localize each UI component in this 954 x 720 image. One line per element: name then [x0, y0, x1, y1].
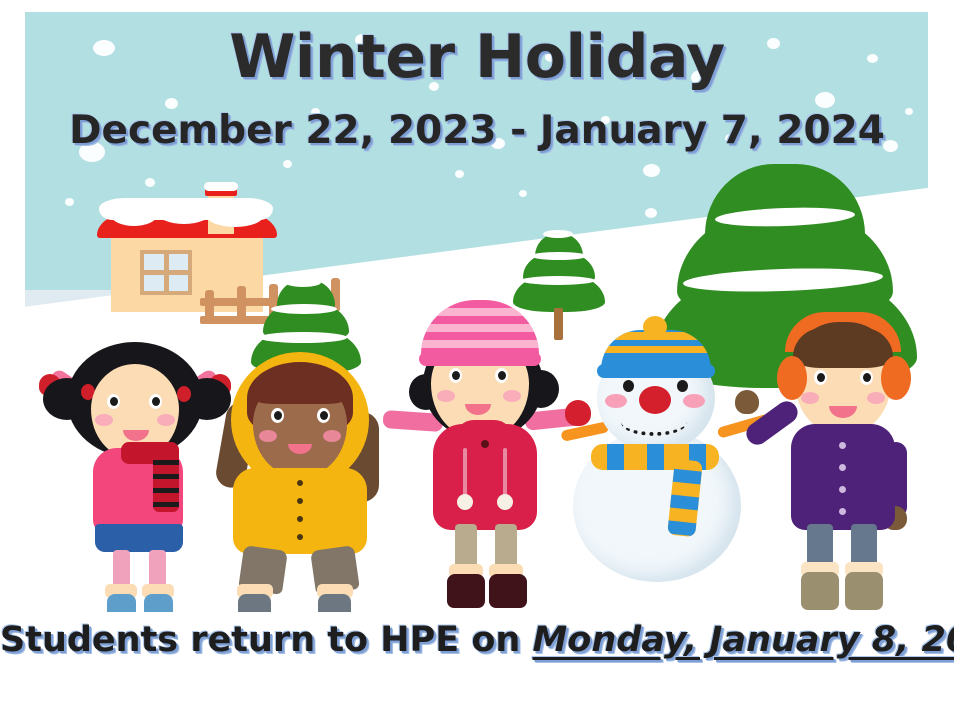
winter-scene	[25, 12, 928, 612]
tree-snow-band	[543, 230, 573, 238]
mitten-right	[565, 400, 591, 426]
boot-right	[845, 572, 883, 610]
scarf-stripe	[667, 520, 696, 536]
hair-fringe	[793, 328, 893, 368]
hat-stripe	[421, 324, 539, 332]
boot-right	[489, 574, 527, 608]
pupil-left	[817, 373, 825, 382]
hair-pigtail-right	[183, 378, 231, 420]
scarf-stripe	[647, 444, 664, 470]
return-notice-text: Students return to HPE on	[0, 620, 532, 660]
hat-brim	[419, 352, 541, 366]
tree-snow-band	[285, 278, 321, 287]
tree-trunk	[554, 308, 563, 340]
jacket-button	[839, 464, 846, 471]
cheek-left	[605, 394, 627, 408]
chimney-snow-cap	[204, 182, 238, 191]
pupil-left	[110, 397, 118, 406]
eye-right	[677, 380, 688, 392]
hair-fringe	[251, 370, 349, 404]
cheek-left	[437, 390, 455, 402]
hat-pompom	[643, 316, 667, 338]
drawstring-ball-left	[457, 494, 473, 510]
scarf-stripe	[153, 474, 179, 479]
return-date: Monday, January 8, 2024	[532, 620, 954, 660]
eye-left	[623, 380, 634, 392]
jacket-button	[297, 480, 303, 486]
window-mullion-horizontal	[140, 270, 192, 275]
holiday-date-range: December 22, 2023 - January 7, 2024	[0, 108, 954, 153]
fence-post	[205, 290, 214, 324]
pupil-right	[152, 397, 160, 406]
cheek-right	[683, 394, 705, 408]
drawstring-left	[463, 448, 467, 498]
cheek-right	[157, 414, 175, 426]
skirt	[95, 524, 183, 552]
jacket-button	[839, 486, 846, 493]
pupil-right	[498, 371, 506, 380]
boot-left	[107, 594, 136, 612]
cheek-right	[503, 390, 521, 402]
cheek-left	[259, 430, 277, 442]
winter-holiday-poster: Winter Holiday December 22, 2023 - Janua…	[0, 0, 954, 720]
coat-button	[481, 440, 489, 448]
hat-stripe	[601, 346, 711, 353]
roof-snow-bump	[111, 204, 157, 226]
tree-snow-band	[521, 276, 595, 285]
jacket-button	[297, 516, 303, 522]
earmuff-right	[881, 356, 911, 400]
tree-snow-band	[259, 332, 347, 343]
pupil-right	[863, 373, 871, 382]
page-title: Winter Holiday	[0, 22, 954, 92]
cheek-right	[867, 392, 885, 404]
boot-left	[447, 574, 485, 608]
hat-stripe	[421, 308, 539, 316]
hat-stripe	[421, 340, 539, 348]
scarf-stripe	[153, 488, 179, 493]
boot-right	[318, 594, 351, 612]
boot-right	[144, 594, 173, 612]
cheek-left	[801, 392, 819, 404]
pupil-left	[452, 371, 460, 380]
roof-snow-bump	[207, 205, 263, 227]
boot-left	[801, 572, 839, 610]
boot-left	[238, 594, 271, 612]
pupil-right	[320, 411, 328, 420]
mouth	[621, 408, 687, 436]
mitten-left	[735, 390, 759, 414]
return-notice: Students return to HPE on Monday, Januar…	[0, 620, 954, 660]
scarf-stripe	[673, 469, 702, 485]
jacket-button	[297, 498, 303, 504]
tree-snow-band	[531, 252, 587, 260]
jacket-button	[839, 442, 846, 449]
drawstring-ball-right	[497, 494, 513, 510]
jacket-button	[297, 534, 303, 540]
hat-brim	[597, 364, 715, 378]
cheek-left	[95, 414, 113, 426]
tree-snow-band	[271, 304, 337, 314]
drawstring-right	[503, 448, 507, 498]
scarf-stripe	[607, 444, 624, 470]
roof-snow-bump	[157, 200, 211, 224]
scarf-stripe	[153, 460, 179, 465]
hair-tie-right	[177, 386, 191, 402]
cheek-right	[323, 430, 341, 442]
fence-post	[237, 286, 246, 320]
pupil-left	[274, 411, 282, 420]
scarf-stripe	[153, 502, 179, 507]
scarf-stripe	[670, 495, 699, 511]
jacket-button	[839, 508, 846, 515]
